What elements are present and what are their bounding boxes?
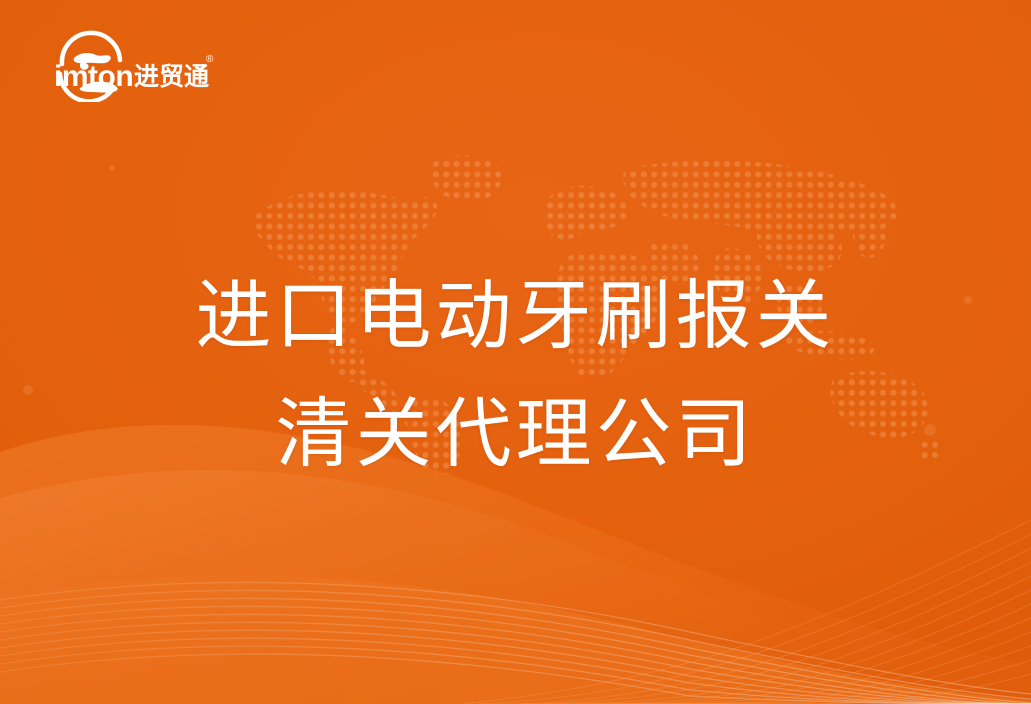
registered-trademark-symbol: ® [206,54,214,65]
logo-wordmark: imton [54,60,133,93]
headline-block: 进口电动牙刷报关 清关代理公司 [0,258,1031,494]
banner-image: imton 进贸通 ® 进口电动牙刷报关 清关代理公司 [0,0,1031,704]
logo-chinese-name: 进贸通 [134,63,209,91]
brand-logo[interactable]: imton 进贸通 ® [38,30,218,102]
headline-line-1: 进口电动牙刷报关 [0,258,1031,376]
headline-line-2: 清关代理公司 [0,376,1031,494]
